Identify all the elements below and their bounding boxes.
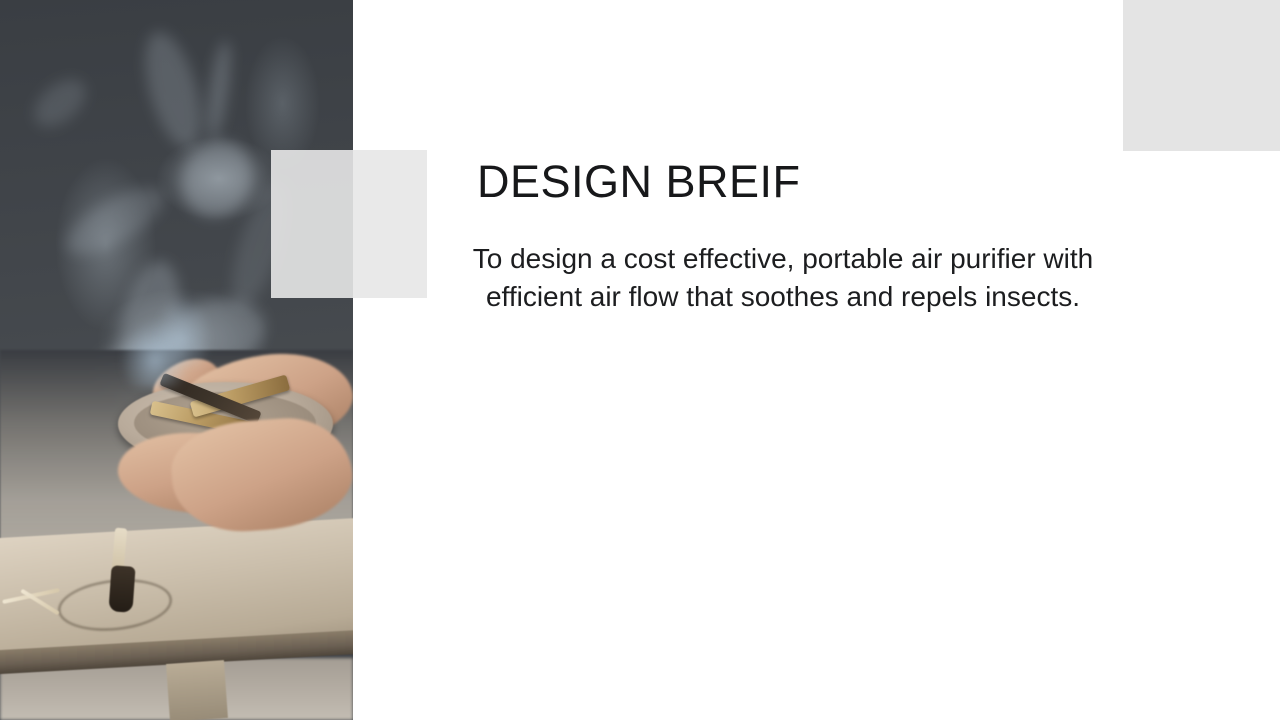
page-title: DESIGN BREIF [477, 157, 801, 207]
table-leg [166, 660, 228, 720]
content-area: DESIGN BREIF To design a cost effective,… [353, 0, 1280, 720]
brush-head-icon [108, 565, 135, 613]
rising-smoke-icon [152, 296, 212, 366]
slide-canvas: DESIGN BREIF To design a cost effective,… [0, 0, 1280, 720]
design-brief-body-text: To design a cost effective, portable air… [443, 240, 1123, 316]
hero-photo [0, 0, 353, 720]
